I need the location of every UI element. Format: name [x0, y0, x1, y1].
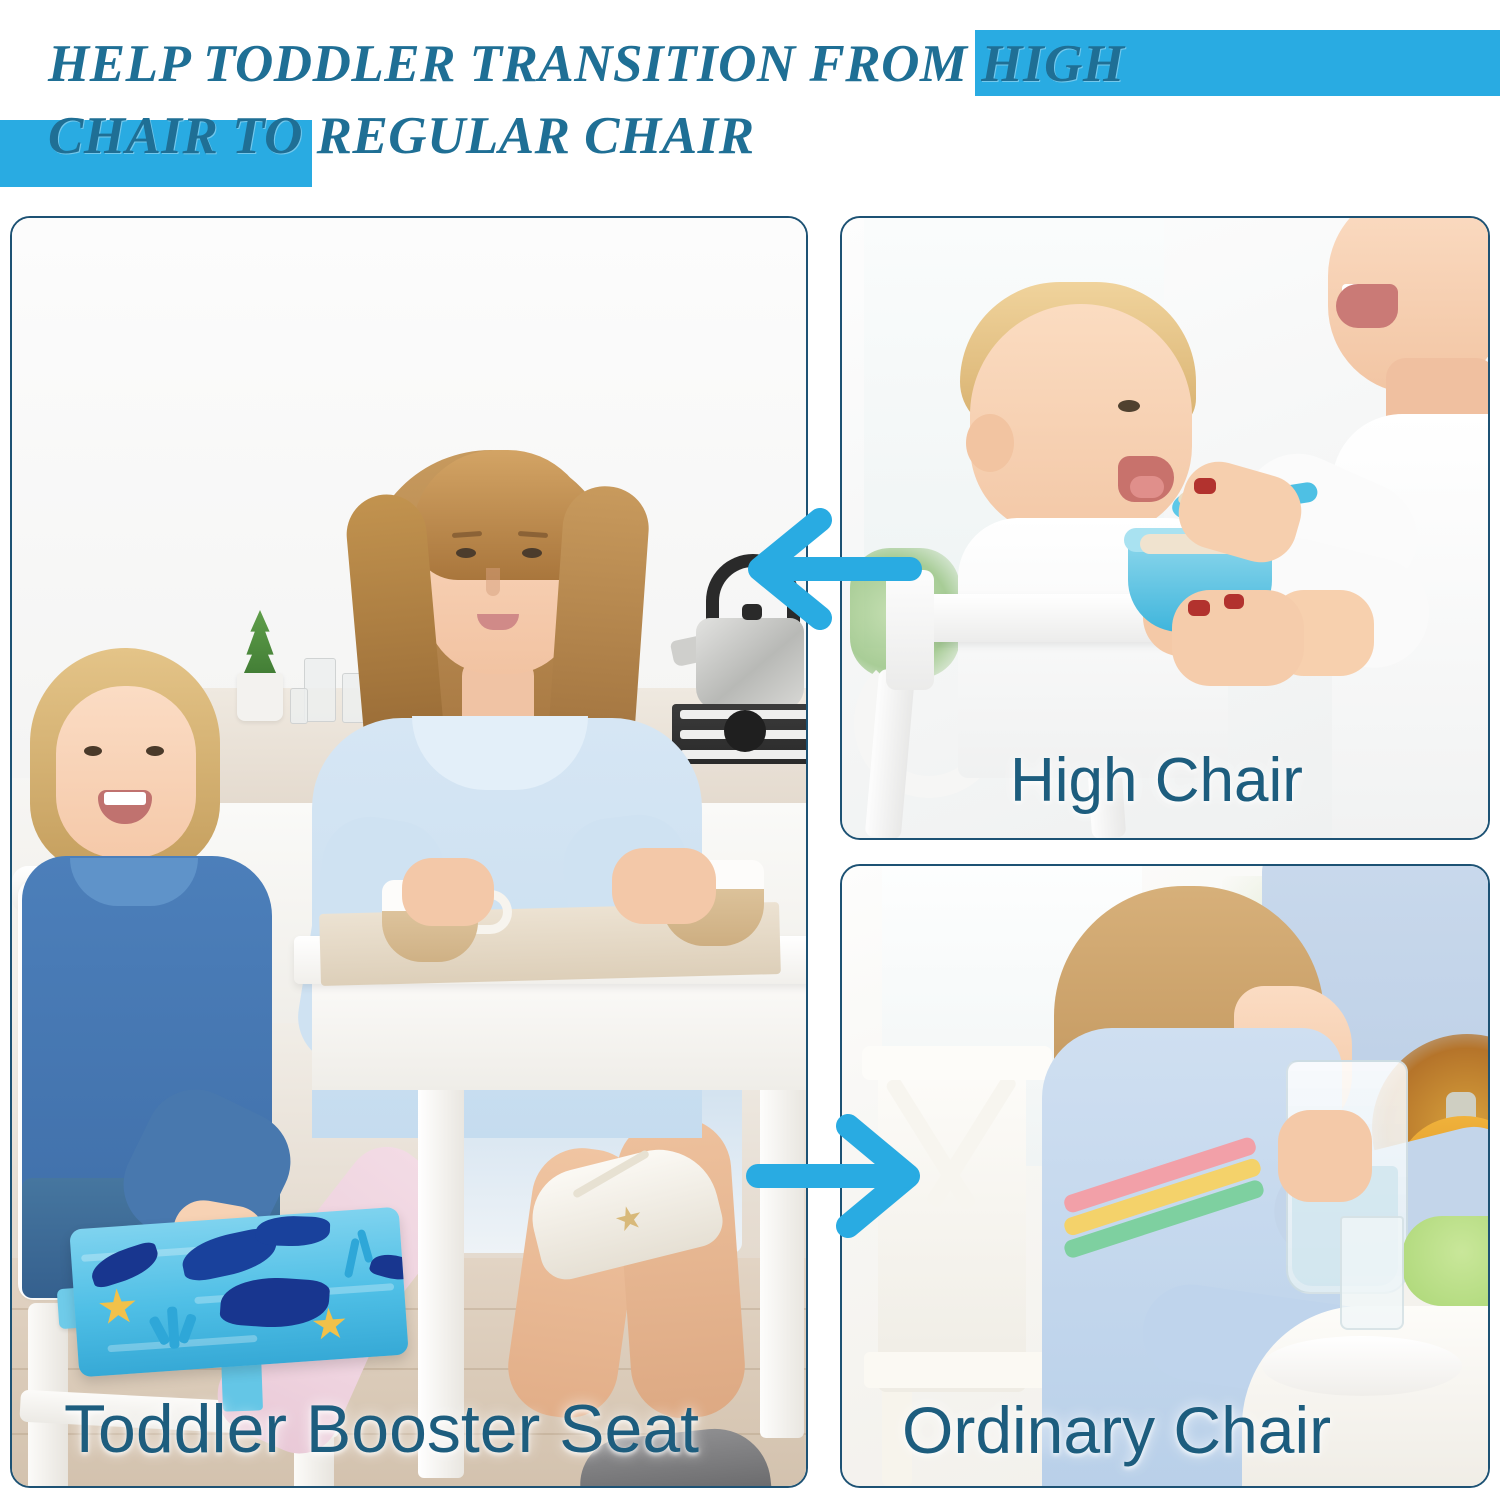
caption-ordinary-chair: Ordinary Chair	[902, 1392, 1331, 1468]
page-title-line-2: CHAIR TO REGULAR CHAIR	[48, 106, 755, 166]
panel-ordinary-chair[interactable]: Ordinary Chair	[840, 864, 1490, 1488]
dinner-plate	[1262, 1336, 1462, 1396]
panel-high-chair[interactable]: High Chair	[840, 216, 1490, 840]
caption-high-chair: High Chair	[1010, 745, 1303, 816]
booster-seat-cushion	[69, 1207, 409, 1378]
arrow-left-icon	[742, 506, 922, 632]
drinking-glass	[1340, 1216, 1404, 1330]
page-title-line-1: HELP TODDLER TRANSITION FROM HIGH	[48, 34, 1125, 94]
scene-booster-seat	[12, 218, 806, 1486]
header-banner: HELP TODDLER TRANSITION FROM HIGH CHAIR …	[0, 0, 1500, 200]
arrow-right-icon	[744, 1112, 926, 1240]
caption-toddler-booster-seat: Toddler Booster Seat	[64, 1390, 699, 1468]
panel-toddler-booster-seat[interactable]: Toddler Booster Seat	[10, 216, 808, 1488]
